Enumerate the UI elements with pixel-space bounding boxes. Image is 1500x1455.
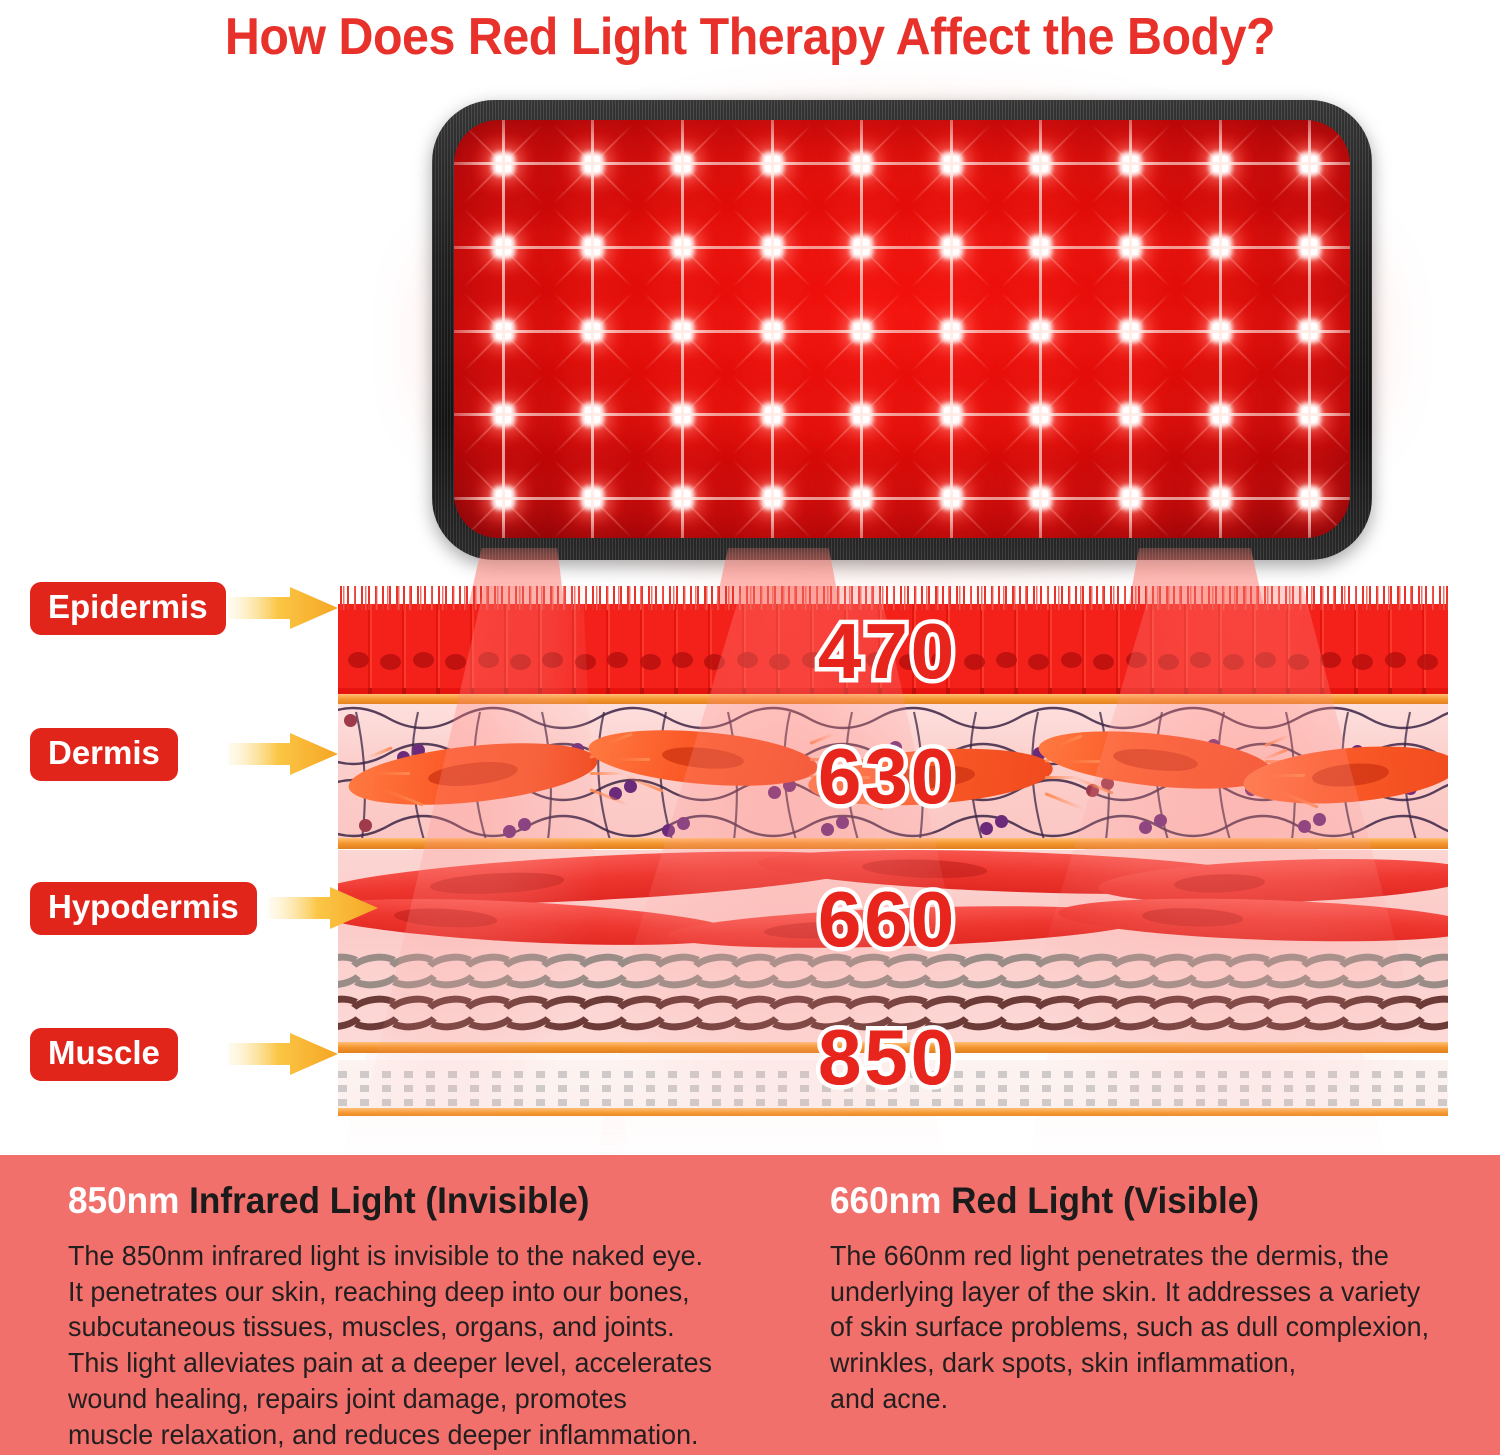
fibroblast-process	[1271, 774, 1305, 777]
layer-pointer-arrow-dermis	[228, 733, 338, 775]
epidermis-cell-nucleus	[1417, 654, 1438, 670]
collagen-node	[359, 819, 372, 832]
epidermis-cell-nucleus	[478, 652, 499, 668]
led-light	[675, 156, 690, 172]
led-light	[944, 490, 959, 506]
info-nm-660: 660nm	[830, 1180, 941, 1221]
collagen-node	[344, 714, 357, 727]
collagen-node	[995, 815, 1008, 828]
dermis-lower-band	[338, 838, 1448, 849]
info-heading-text-660: Red Light (Visible)	[941, 1180, 1259, 1221]
led-light	[496, 490, 511, 506]
epidermis-cell-nucleus	[1288, 654, 1309, 670]
led-light	[944, 407, 959, 423]
led-light	[854, 407, 869, 423]
epidermis-cell-nucleus	[737, 652, 758, 668]
epidermis-cell-nucleus	[640, 654, 661, 670]
epidermis-cell-nucleus	[1352, 654, 1373, 670]
epidermis-cell-nucleus	[542, 652, 563, 668]
collagen-node	[980, 822, 993, 835]
led-light	[1033, 323, 1048, 339]
fibroblast-nucleus	[661, 744, 745, 772]
led-light	[675, 323, 690, 339]
led-therapy-pad	[432, 100, 1372, 560]
info-body-850nm: The 850nm infrared light is invisible to…	[68, 1238, 730, 1453]
led-light	[1123, 323, 1138, 339]
collagen-node	[821, 823, 834, 836]
collagen-node	[677, 817, 690, 830]
led-light	[675, 239, 690, 255]
fibroblast-nucleus	[1112, 745, 1198, 775]
layer-label-muscle[interactable]: Muscle	[30, 1028, 178, 1081]
led-light	[1302, 407, 1317, 423]
led-light	[854, 156, 869, 172]
collagen-node	[662, 824, 675, 837]
led-light	[585, 490, 600, 506]
epidermis-cell-nucleus	[1190, 652, 1211, 668]
led-light	[1033, 156, 1048, 172]
led-light	[496, 407, 511, 423]
layer-label-dermis[interactable]: Dermis	[30, 728, 178, 781]
muscle-fiber-nucleus	[1174, 873, 1266, 895]
info-line: wound healing, repairs joint damage, pro…	[68, 1381, 730, 1417]
collagen-node	[1139, 821, 1152, 834]
led-light	[1213, 156, 1228, 172]
epidermis-cell-nucleus	[1223, 654, 1244, 670]
muscle-fiber-nucleus	[1142, 907, 1243, 928]
epidermis-cell-nucleus	[380, 654, 401, 670]
wavelength-850-fill: 850	[818, 1018, 957, 1096]
info-line: wrinkles, dark spots, skin inflammation,	[830, 1345, 1444, 1381]
led-light	[765, 156, 780, 172]
layer-label-hypodermis[interactable]: Hypodermis	[30, 882, 257, 935]
info-line: and acne.	[830, 1381, 1444, 1417]
info-panel: 850nm Infrared Light (Invisible) The 850…	[0, 1155, 1500, 1455]
led-light	[1213, 239, 1228, 255]
led-light	[1302, 156, 1317, 172]
info-line: of skin surface problems, such as dull c…	[830, 1309, 1444, 1345]
epidermis-cell-nucleus	[575, 654, 596, 670]
led-light	[585, 156, 600, 172]
info-line: subcutaneous tissues, muscles, organs, a…	[68, 1309, 730, 1345]
muscle-fiber-nucleus	[394, 906, 498, 929]
muscle-lower-band	[338, 1108, 1448, 1116]
led-light	[496, 323, 511, 339]
info-line: The 850nm infrared light is invisible to…	[68, 1238, 730, 1274]
epidermis-cell-nucleus	[510, 654, 531, 670]
epidermis-cell-nucleus	[1061, 652, 1082, 668]
led-light	[854, 490, 869, 506]
led-light	[1033, 239, 1048, 255]
pad-led-surface	[454, 120, 1350, 538]
epidermis-cell-nucleus	[445, 654, 466, 670]
layer-pointer-arrow-hypodermis	[268, 887, 378, 929]
led-light	[1033, 407, 1048, 423]
wavelength-470-fill: 470	[818, 612, 957, 690]
hypodermis-muscle-fiber	[1057, 893, 1448, 948]
info-column-660nm: 660nm Red Light (Visible) The 660nm red …	[830, 1181, 1470, 1417]
led-light	[1033, 490, 1048, 506]
led-light	[675, 407, 690, 423]
collagen-node	[768, 786, 781, 799]
epidermis-cell-nucleus	[1385, 652, 1406, 668]
led-light	[765, 407, 780, 423]
info-heading-660nm: 660nm Red Light (Visible)	[830, 1181, 1438, 1222]
fibroblast-nucleus	[427, 758, 519, 790]
info-nm-850: 850nm	[68, 1180, 179, 1221]
led-light	[496, 239, 511, 255]
fibroblast-process	[616, 758, 650, 761]
led-light	[765, 239, 780, 255]
collagen-node	[1298, 820, 1311, 833]
led-light	[1123, 490, 1138, 506]
info-body-660nm: The 660nm red light penetrates the dermi…	[830, 1238, 1444, 1417]
led-light	[854, 239, 869, 255]
info-heading-850nm: 850nm Infrared Light (Invisible)	[68, 1181, 724, 1222]
epidermis-cell-nucleus	[1320, 652, 1341, 668]
layer-pointer-arrow-epidermis	[228, 587, 338, 629]
epidermis-cell-nucleus	[1093, 654, 1114, 670]
epidermis-cell-nucleus	[348, 652, 369, 668]
pad-fabric-border	[432, 100, 1372, 560]
epidermis-cell-nucleus	[1158, 654, 1179, 670]
led-light	[496, 156, 511, 172]
led-light	[585, 407, 600, 423]
fibroblast-process	[376, 772, 410, 775]
info-line: muscle relaxation, and reduces deeper in…	[68, 1417, 730, 1453]
led-light	[944, 156, 959, 172]
led-light	[1123, 239, 1138, 255]
fibroblast-process	[590, 772, 624, 775]
led-light	[944, 323, 959, 339]
led-light	[675, 490, 690, 506]
epidermis-cell-nucleus	[607, 652, 628, 668]
info-line: underlying layer of the skin. It address…	[830, 1274, 1444, 1310]
led-light	[1123, 156, 1138, 172]
collagen-node	[1154, 814, 1167, 827]
epidermis-cell-nucleus	[996, 652, 1017, 668]
epidermis-cell-nucleus	[704, 654, 725, 670]
epidermis-cell-nucleus	[413, 652, 434, 668]
led-light	[585, 323, 600, 339]
muscle-fiber-nucleus	[430, 870, 565, 896]
wavelength-630-fill: 630	[818, 737, 957, 815]
led-light	[585, 239, 600, 255]
led-light	[1302, 239, 1317, 255]
led-light	[1213, 490, 1228, 506]
led-light	[1302, 490, 1317, 506]
info-line: It penetrates our skin, reaching deep in…	[68, 1274, 730, 1310]
info-column-850nm: 850nm Infrared Light (Invisible) The 850…	[68, 1181, 758, 1453]
epidermis-cell-nucleus	[672, 652, 693, 668]
collagen-node	[1313, 813, 1326, 826]
led-light	[765, 490, 780, 506]
info-heading-text-850: Infrared Light (Invisible)	[179, 1180, 589, 1221]
epidermis-cell-nucleus	[1028, 654, 1049, 670]
led-light	[1213, 407, 1228, 423]
led-light	[765, 323, 780, 339]
layer-pointer-arrow-muscle	[228, 1033, 338, 1075]
wavelength-660-fill: 660	[818, 880, 957, 958]
led-light	[944, 239, 959, 255]
led-light	[1302, 323, 1317, 339]
fibroblast-process	[1066, 760, 1100, 763]
info-line: This light alleviates pain at a deeper l…	[68, 1345, 730, 1381]
epidermis-cell-nucleus	[1126, 652, 1147, 668]
collagen-node	[503, 825, 516, 838]
epidermis-cell-nucleus	[964, 654, 985, 670]
led-light	[1213, 323, 1228, 339]
info-line: The 660nm red light penetrates the dermi…	[830, 1238, 1444, 1274]
led-light	[1123, 407, 1138, 423]
epidermis-cell-nucleus	[769, 654, 790, 670]
layer-label-epidermis[interactable]: Epidermis	[30, 582, 226, 635]
fibroblast-nucleus	[1311, 761, 1390, 789]
page-title: How Does Red Light Therapy Affect the Bo…	[53, 6, 1448, 68]
led-light	[854, 323, 869, 339]
epidermis-cell-nucleus	[1255, 652, 1276, 668]
collagen-node	[518, 818, 531, 831]
